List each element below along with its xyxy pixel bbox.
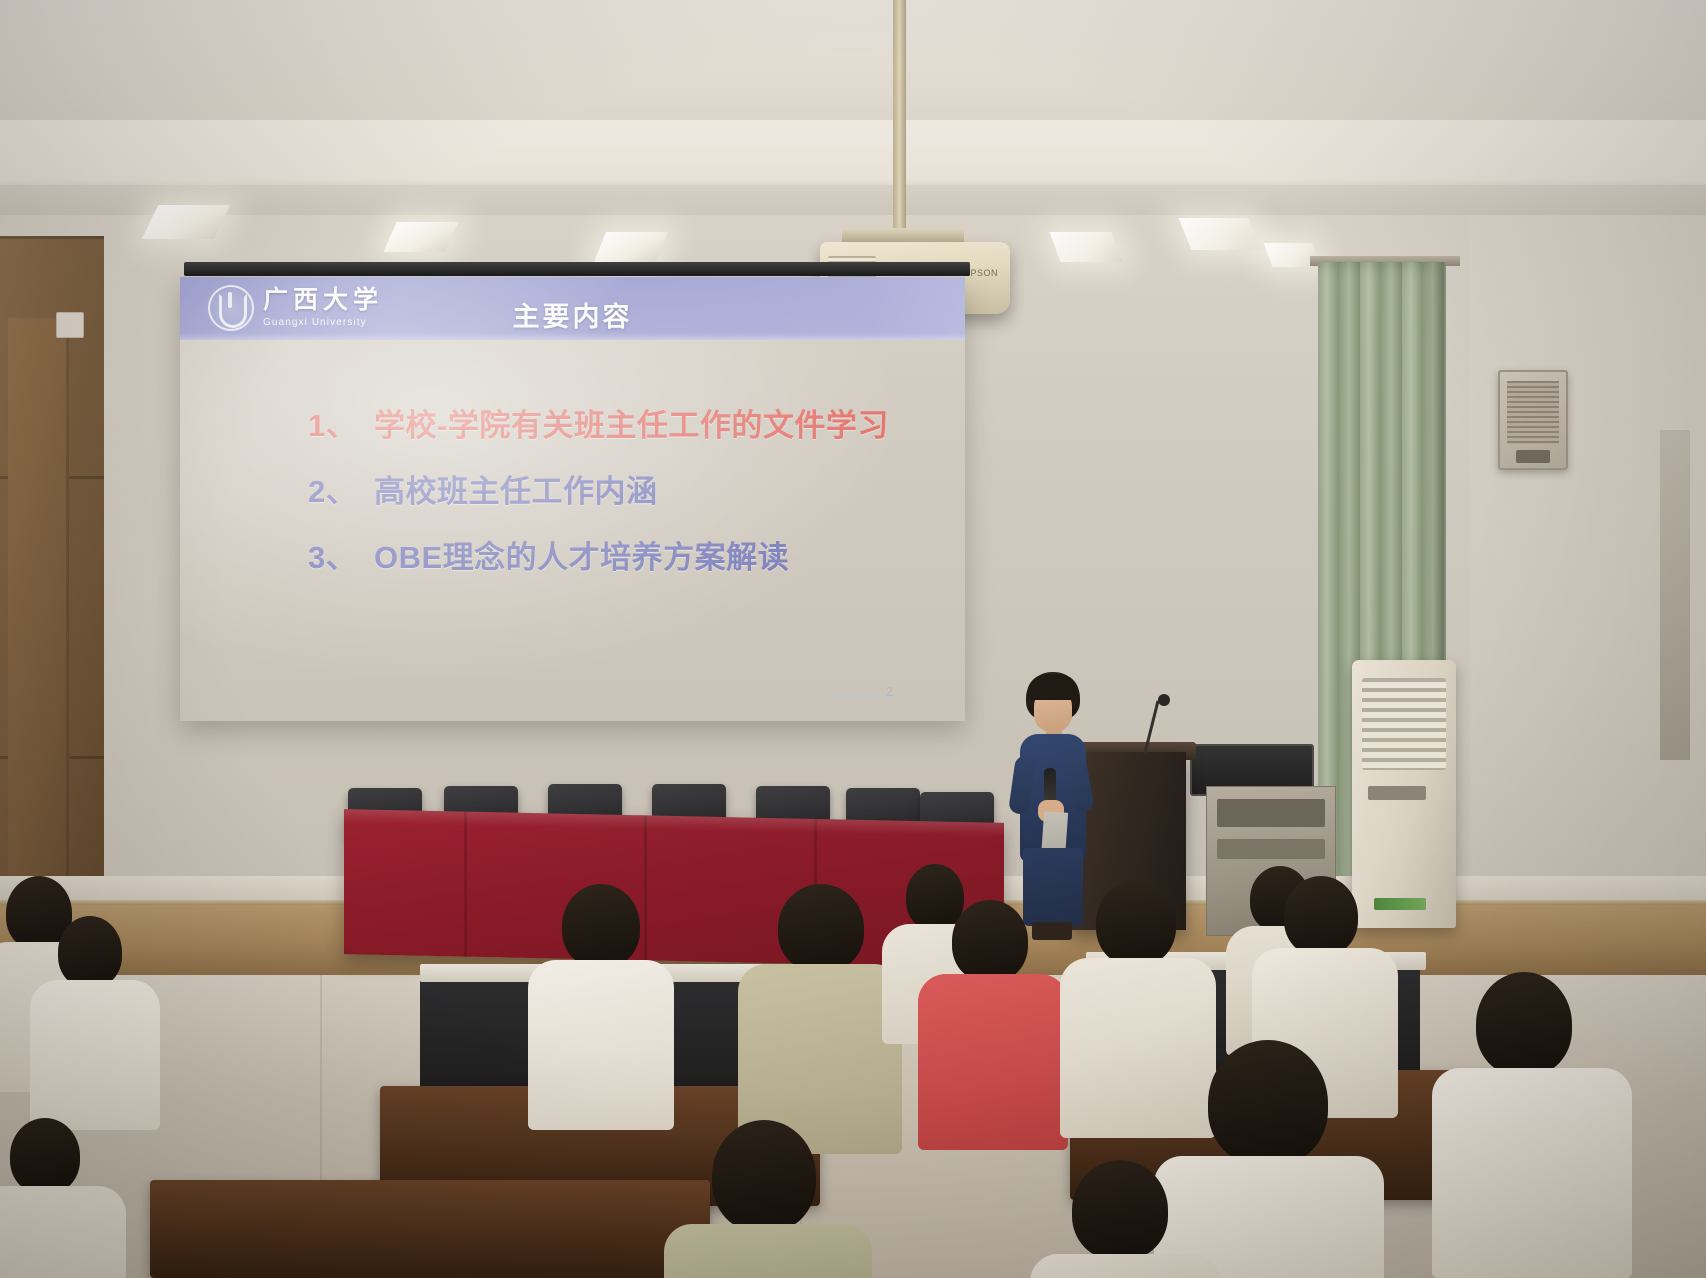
ceiling-light: [1050, 232, 1123, 262]
slide-watermark: 广西大学 教师发展中心: [820, 692, 907, 703]
presenter-fringe: [1027, 674, 1079, 700]
slide-bullet-1: 1、 学校-学院有关班主任工作的文件学习: [308, 400, 965, 445]
speaker-label: [1516, 450, 1550, 463]
slide-bullet-1-text: 学校-学院有关班主任工作的文件学习: [374, 400, 889, 445]
slide-bullet-2-text: 高校班主任工作内涵: [374, 466, 658, 511]
screen-roller-case: [184, 262, 970, 276]
presenter-legs: [1032, 922, 1072, 940]
podium-microphone-head-icon: [1158, 694, 1170, 706]
slide-page-number: 2: [886, 684, 893, 699]
ac-louvers-icon: [1362, 678, 1446, 770]
slide-bullet-3-text: OBE理念的人才培养方案解读: [374, 532, 789, 577]
wall-switch-plate[interactable]: [56, 312, 84, 338]
av-panel-upper: [1217, 799, 1325, 827]
speaker-grille-icon: [1507, 381, 1559, 444]
right-wall-pillar: [1660, 430, 1690, 760]
slide-body: 1、 学校-学院有关班主任工作的文件学习 2、 高校班主任工作内涵 3、 OBE…: [180, 340, 965, 721]
slide-bullet-3-index: 3、: [308, 532, 370, 577]
projector-mount-pole: [893, 0, 906, 232]
floor-air-conditioner: [1352, 660, 1456, 928]
av-panel-lower: [1217, 839, 1325, 859]
slide-bullet-3: 3、 OBE理念的人才培养方案解读: [308, 532, 965, 577]
bench-row: [150, 1180, 710, 1278]
slide-bullet-2-index: 2、: [308, 466, 370, 511]
slide-header-band: 广西大学 Guangxi University 主要内容: [180, 277, 965, 340]
wall-speaker: [1498, 370, 1568, 470]
lecture-hall-photo: EPSON 广西大学 Guangxi University 主要内容 1、 学校…: [0, 0, 1706, 1278]
ac-brand-logo-icon: [1374, 898, 1426, 910]
slide-bullet-1-index: 1、: [308, 400, 370, 445]
presenter: [1004, 672, 1100, 940]
ceiling-light: [594, 232, 668, 262]
slide-bullet-2: 2、 高校班主任工作内涵: [308, 466, 965, 511]
ac-display-panel: [1368, 786, 1426, 800]
projection-screen: 广西大学 Guangxi University 主要内容 1、 学校-学院有关班…: [180, 277, 965, 721]
side-door[interactable]: [8, 318, 69, 878]
ceiling-light: [1179, 218, 1262, 250]
presenter-skirt: [1023, 848, 1083, 926]
slide-title: 主要内容: [180, 295, 965, 334]
